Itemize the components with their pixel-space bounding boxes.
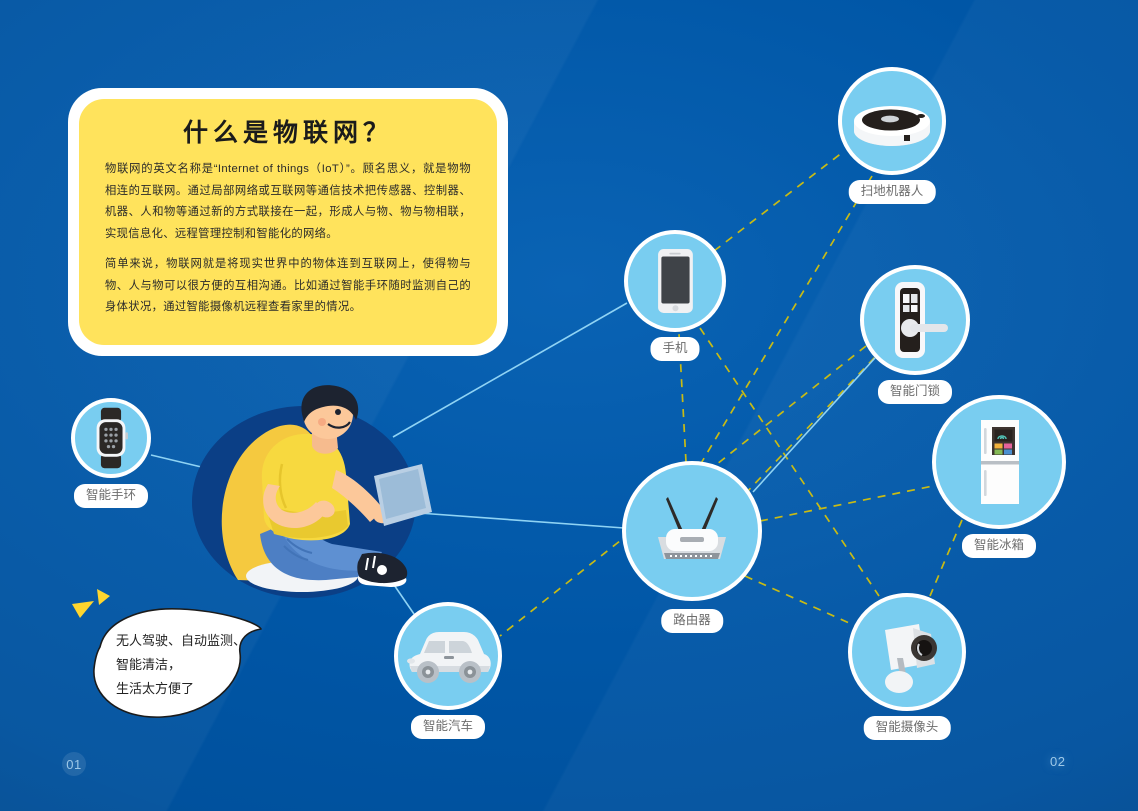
smartband-label: 智能手环 (74, 484, 148, 508)
sneaker-detail (377, 565, 387, 575)
cheek-blush (318, 418, 326, 426)
router-label: 路由器 (661, 609, 723, 633)
link-router-door-lock (745, 356, 876, 494)
camera-disc[interactable] (848, 593, 966, 711)
eye (335, 409, 341, 415)
router-icon (642, 481, 742, 581)
spark-small (97, 589, 110, 605)
link-refrigerator-camera (930, 520, 962, 596)
phone-disc[interactable] (624, 230, 726, 332)
cctv-camera-icon (857, 602, 957, 702)
car-label: 智能汽车 (411, 715, 485, 739)
info-card-paragraph-2: 简单来说，物联网就是将现实世界中的物体连到互联网上，使得物与物、人与物可以很方便… (105, 254, 471, 319)
page-number-left: 01 (62, 752, 86, 776)
smartwatch-icon (75, 398, 147, 478)
link-person-router (405, 512, 624, 528)
link-phone-robot-vacuum (714, 152, 843, 251)
info-card-paragraph-1: 物联网的英文名称是“Internet of things（IoT）”。顾名思义，… (105, 159, 471, 245)
robot-vacuum-label: 扫地机器人 (849, 180, 936, 204)
speech-line-2: 智能清洁， (116, 653, 266, 677)
node-door-lock[interactable]: 智能门锁 (860, 265, 970, 375)
car-icon (398, 606, 498, 706)
refrigerator-disc[interactable] (932, 395, 1066, 529)
info-card-title: 什么是物联网？ (105, 113, 471, 149)
node-robot-vacuum[interactable]: 扫地机器人 (838, 67, 946, 175)
phone-label: 手机 (650, 337, 699, 361)
robot-vacuum-icon (842, 71, 942, 171)
door-lock-disc[interactable] (860, 265, 970, 375)
smartphone-icon (628, 231, 722, 331)
page-number-right: 02 (1050, 754, 1065, 769)
node-router[interactable]: 路由器 (622, 461, 762, 601)
speech-bubble-text: 无人驾驶、自动监测、 智能清洁， 生活太方便了 (116, 629, 266, 701)
speech-line-3: 生活太方便了 (116, 677, 266, 701)
info-card: 什么是物联网？ 物联网的英文名称是“Internet of things（IoT… (68, 88, 508, 356)
node-car[interactable]: 智能汽车 (394, 602, 502, 710)
node-phone[interactable]: 手机 (624, 230, 726, 332)
link-router-doorlock-solid (753, 358, 875, 492)
refrigerator-icon (949, 412, 1049, 512)
car-disc[interactable] (394, 602, 502, 710)
link-router-refrigerator (760, 486, 933, 521)
node-camera[interactable]: 智能摄像头 (848, 593, 966, 711)
infographic-page: 什么是物联网？ 物联网的英文名称是“Internet of things（IoT… (0, 0, 1138, 811)
info-card-body: 什么是物联网？ 物联网的英文名称是“Internet of things（IoT… (79, 99, 497, 345)
router-disc[interactable] (622, 461, 762, 601)
smartband-disc[interactable] (71, 398, 151, 478)
camera-label: 智能摄像头 (864, 716, 951, 740)
node-smartband[interactable]: 智能手环 (71, 398, 151, 478)
node-refrigerator[interactable]: 智能冰箱 (932, 395, 1066, 529)
refrigerator-label: 智能冰箱 (962, 534, 1036, 558)
person-illustration (186, 384, 436, 604)
door-lock-icon (865, 270, 965, 370)
robot-vacuum-disc[interactable] (838, 67, 946, 175)
speech-bubble: 无人驾驶、自动监测、 智能清洁， 生活太方便了 (88, 607, 263, 719)
speech-line-1: 无人驾驶、自动监测、 (116, 629, 266, 653)
